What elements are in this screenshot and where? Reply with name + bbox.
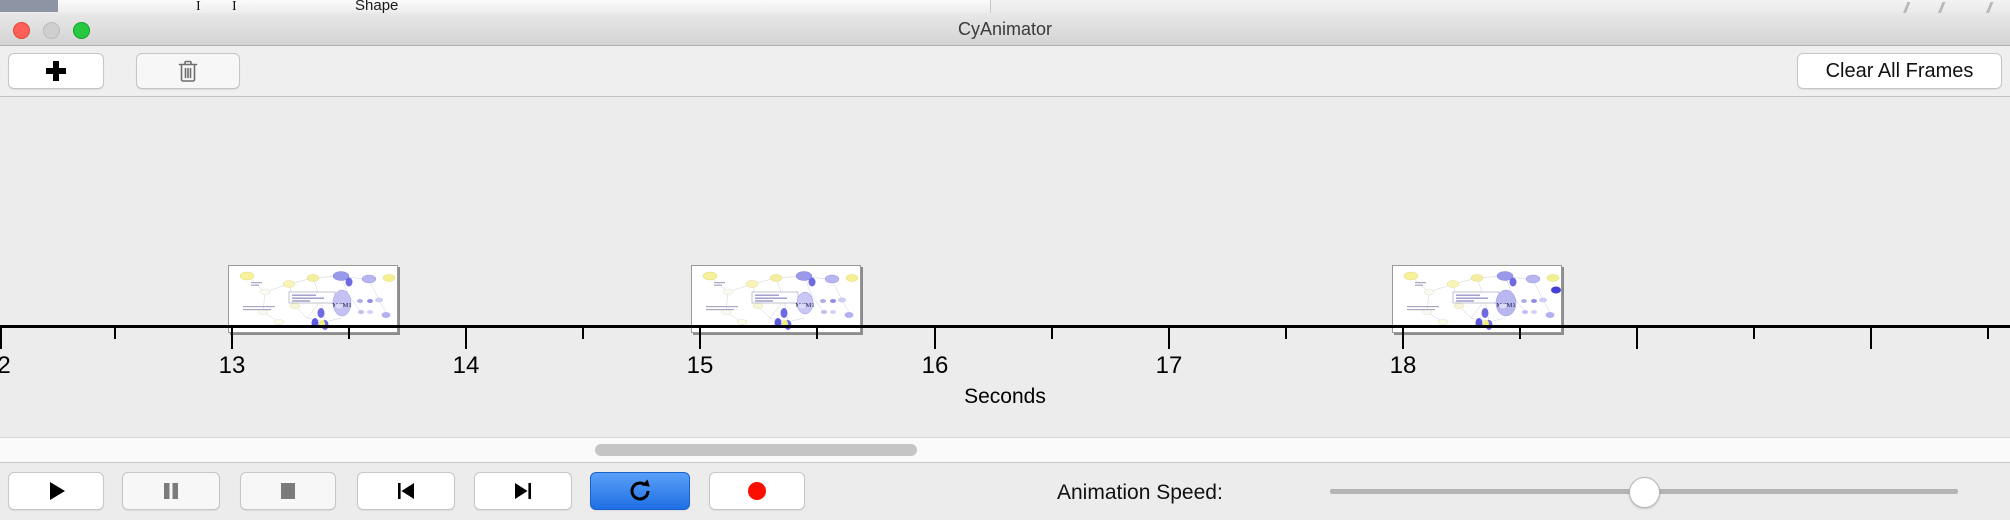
timeline-ruler [0,325,2010,351]
network-thumbnail-graphic: MCM1 [692,266,860,332]
pause-button[interactable] [122,472,220,510]
background-tab [58,0,187,13]
loop-button[interactable] [590,472,690,510]
ruler-tick-major [1402,328,1404,349]
frame-thumbnail[interactable]: MCM1 [228,265,398,333]
ruler-label: 16 [922,352,949,380]
background-glyph: I [196,0,201,14]
play-icon [44,479,68,503]
skip-back-button[interactable] [357,472,455,510]
ruler-tick-major [0,328,2,349]
background-window-strip: I I Shape [0,0,2010,14]
timeline-scrollbar-thumb[interactable] [595,444,917,456]
loop-icon [627,478,653,504]
ruler-tick-major [231,328,233,349]
network-thumbnail-graphic: MCM1 [229,266,397,332]
frame-toolbar: Clear All Frames [0,46,2010,97]
record-icon [745,479,769,503]
ruler-tick-minor [348,328,350,339]
timeline-panel[interactable]: MCM1 [0,97,2010,437]
background-tab [246,0,309,13]
skip-backward-icon [394,480,418,502]
ruler-tick-minor [816,328,818,339]
add-frame-button[interactable] [8,53,104,89]
clear-all-frames-button[interactable]: Clear All Frames [1797,53,2002,89]
ruler-baseline [0,325,2010,328]
ruler-tick-major [699,328,701,349]
skip-forward-button[interactable] [474,472,572,510]
background-window-label: Shape [355,0,398,14]
ruler-tick-major [465,328,467,349]
stop-icon [277,480,299,502]
ruler-label: 18 [1390,352,1417,380]
background-glyph: I [232,0,237,14]
axis-title-seconds: Seconds [0,385,2010,409]
window-titlebar[interactable]: CyAnimator [0,13,2010,46]
play-button[interactable] [8,472,104,510]
ruler-label: 17 [1156,352,1183,380]
cyanimator-window: CyAnimator Clear All Frames [0,13,2010,510]
ruler-label: 14 [453,352,480,380]
background-tab [912,0,991,13]
ruler-tick-major [934,328,936,349]
animation-speed-slider-thumb[interactable] [1629,477,1660,508]
ruler-label: 15 [687,352,714,380]
ruler-tick-major [1168,328,1170,349]
ruler-label: 2 [0,352,11,380]
record-button[interactable] [709,472,805,510]
ruler-tick-minor [1285,328,1287,339]
plus-icon [45,60,67,82]
ruler-label: 13 [219,352,246,380]
ruler-tick-minor [1987,328,1989,339]
frame-thumbnail[interactable]: MCM1 [1392,265,1562,333]
ruler-tick-minor [114,328,116,339]
stop-button[interactable] [240,472,336,510]
trash-icon [177,59,199,83]
frame-thumbnail[interactable]: MCM1 [691,265,861,333]
ruler-tick-minor [1753,328,1755,339]
ruler-tick-minor [1051,328,1053,339]
skip-forward-icon [511,480,535,502]
ruler-tick-major [1870,328,1872,349]
playback-toolbar: Animation Speed: [0,463,2010,520]
network-thumbnail-graphic: MCM1 [1393,266,1561,332]
animation-speed-label: Animation Speed: [1057,481,1223,505]
ruler-tick-minor [1519,328,1521,339]
ruler-tick-minor [582,328,584,339]
window-title: CyAnimator [0,19,2010,40]
background-tab [392,0,913,13]
delete-frame-button[interactable] [136,53,240,89]
ruler-tick-major [1636,328,1638,349]
background-titlebar-fill [0,0,58,12]
timeline-scrollbar[interactable] [0,437,2010,463]
pause-icon [160,480,182,502]
